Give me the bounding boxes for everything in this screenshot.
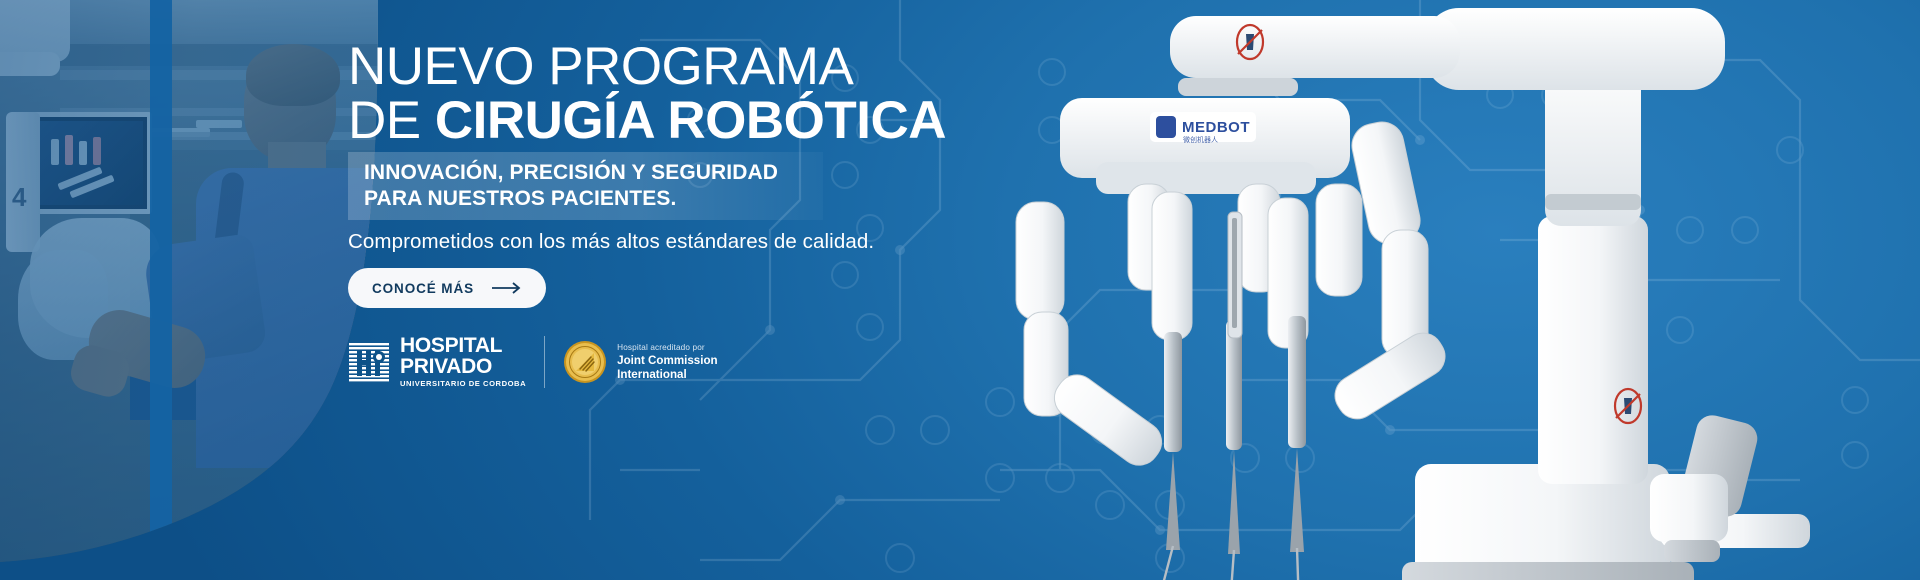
banner-content: NUEVO PROGRAMA DE CIRUGÍA ROBÓTICA INNOV… bbox=[348, 0, 1048, 580]
subtitle-line-2: PARA NUESTROS PACIENTES. bbox=[364, 187, 676, 210]
svg-text:MEDBOT: MEDBOT bbox=[1182, 119, 1250, 136]
hp-monogram-icon bbox=[348, 341, 390, 383]
logo-divider bbox=[544, 336, 545, 388]
arrow-right-icon bbox=[492, 282, 522, 294]
hospital-privado-logo[interactable]: HOSPITAL PRIVADO UNIVERSITARIO DE CORDOB… bbox=[348, 336, 526, 387]
hero-banner: 4 bbox=[0, 0, 1920, 580]
logo-row: HOSPITAL PRIVADO UNIVERSITARIO DE CORDOB… bbox=[348, 336, 718, 388]
accreditation-line-1: Joint Commission bbox=[617, 354, 718, 367]
subtitle-line-1: INNOVACIÓN, PRECISIÓN Y SEGURIDAD bbox=[364, 161, 778, 184]
hospital-logo-line-1: HOSPITAL bbox=[400, 336, 526, 356]
hospital-logo-line-2: PRIVADO bbox=[400, 357, 526, 377]
gold-seal-icon bbox=[563, 340, 607, 384]
title-line-1: NUEVO PROGRAMA bbox=[348, 37, 853, 96]
surgeon-photo: 4 bbox=[0, 0, 392, 580]
accreditation-eyebrow: Hospital acreditado por bbox=[617, 343, 718, 352]
svg-text:微创机器人: 微创机器人 bbox=[1183, 135, 1218, 144]
title-line-2-prefix: DE bbox=[348, 91, 435, 150]
hospital-logo-line-3: UNIVERSITARIO DE CORDOBA bbox=[400, 379, 526, 388]
medbot-surgical-robot-illustration: MEDBOT 微创机器人 bbox=[1000, 0, 1920, 580]
tagline: Comprometidos con los más altos estándar… bbox=[348, 230, 988, 254]
title-line-2-bold: CIRUGÍA ROBÓTICA bbox=[435, 91, 946, 150]
cta-label: CONOCÉ MÁS bbox=[372, 281, 474, 296]
accreditation-line-2: International bbox=[617, 368, 718, 381]
page-title: NUEVO PROGRAMA DE CIRUGÍA ROBÓTICA bbox=[348, 40, 1048, 148]
subtitle-highlight-box: INNOVACIÓN, PRECISIÓN Y SEGURIDAD PARA N… bbox=[348, 152, 823, 220]
joint-commission-logo[interactable]: Hospital acreditado por Joint Commission… bbox=[563, 340, 718, 384]
conoce-mas-button[interactable]: CONOCÉ MÁS bbox=[348, 268, 546, 308]
